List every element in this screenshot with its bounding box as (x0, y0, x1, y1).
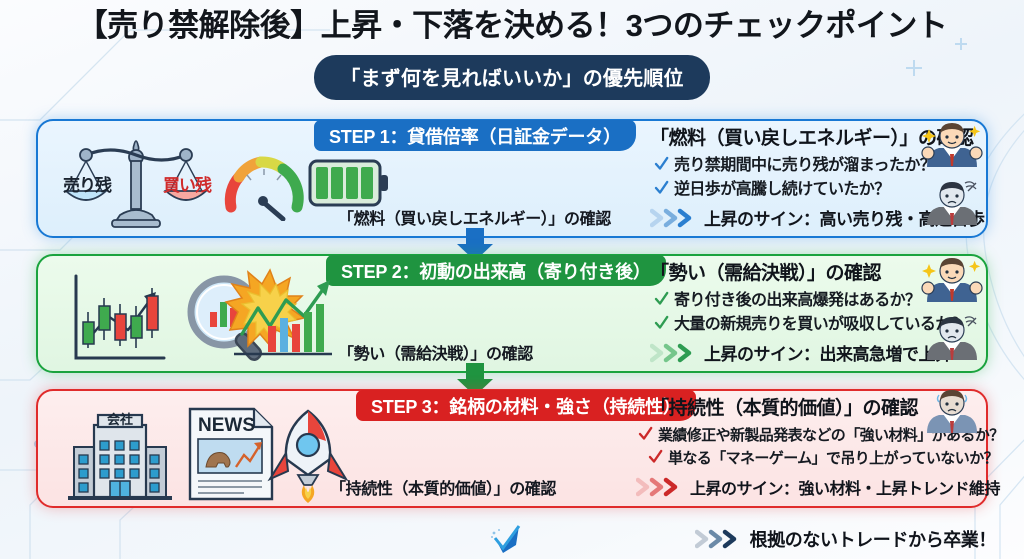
chevrons-right-icon (636, 477, 682, 497)
step-3-characters (921, 385, 983, 500)
check-icon (654, 154, 669, 173)
company-building-icon: 会社 (64, 407, 176, 505)
check-icon (654, 178, 669, 197)
svg-text:会社: 会社 (107, 412, 133, 427)
step-card-1[interactable]: STEP 1：貸借倍率（日証金データ） 売り残 買い残 (36, 119, 988, 238)
step-3-art-caption: 「持続性（本質的価値）」の確認 (330, 475, 556, 499)
worried-businessman-avatar (927, 182, 977, 225)
svg-text:NEWS: NEWS (198, 415, 255, 436)
step-card-2[interactable]: STEP 2：初動の出来高（寄り付き後） (36, 254, 988, 373)
check-icon (638, 424, 653, 443)
step-1-art-caption: 「燃料（買い戻しエネルギー）」の確認 (338, 205, 611, 229)
check-icon (654, 313, 669, 332)
step-2-illustration (60, 264, 310, 368)
worried-businessman-avatar (927, 317, 977, 360)
worried-businessman-avatar (927, 390, 977, 433)
step-3-illustration: 会社 NEWS (60, 399, 310, 503)
scale-right-label: 買い残 (163, 171, 211, 196)
step-2-check-0-label: 寄り付き後の出来高爆発はあるか？ (674, 289, 920, 314)
footer: 根拠のないトレードから卒業！ (0, 518, 1024, 559)
happy-businessman-avatar (922, 123, 982, 167)
step-2-sign-label: 上昇のサイン：出来高急増で上昇 (704, 340, 952, 365)
check-icon (648, 447, 663, 466)
blue-check-icon (490, 523, 522, 555)
step-2-sign-row: 上昇のサイン：出来高急増で上昇 (650, 340, 952, 365)
check-icon (654, 289, 669, 308)
chevrons-right-icon (650, 343, 696, 363)
step-2-art-caption: 「勢い（需給決戦）」の確認 (338, 340, 533, 364)
step-1-illustration: 売り残 買い残 (60, 129, 310, 233)
gauge-icon (223, 151, 309, 221)
chevrons-right-icon (695, 529, 741, 549)
happy-businessman-avatar (922, 258, 982, 302)
step-2-characters (921, 256, 983, 371)
infographic-page: 【売り禁解除後】上昇・下落を決める！3つのチェックポイント 「まず何を見ればいい… (0, 0, 1024, 559)
header: 【売り禁解除後】上昇・下落を決める！3つのチェックポイント 「まず何を見ればいい… (0, 8, 1024, 100)
step-1-check-0-label: 売り禁期間中に売り残が溜まったか？ (674, 154, 935, 179)
step-1-characters (921, 121, 983, 236)
battery-full-icon (307, 153, 393, 213)
step-1-check-1-label: 逆日歩が高騰し続けていたか？ (674, 178, 890, 203)
chevrons-right-icon (650, 208, 696, 228)
step-card-3[interactable]: STEP 3：銘柄の材料・強さ（持続性） 会社 (36, 389, 988, 508)
footer-message: 根拠のないトレードから卒業！ (695, 526, 996, 552)
footer-label: 根拠のないトレードから卒業！ (750, 526, 996, 552)
step-1-badge: STEP 1：貸借倍率（日証金データ） (314, 120, 636, 151)
candlestick-chart-icon (66, 270, 172, 366)
scale-left-label: 売り残 (63, 171, 111, 196)
page-title: 【売り禁解除後】上昇・下落を決める！3つのチェックポイント (0, 8, 1024, 44)
subtitle-pill: 「まず何を見ればいいか」の優先順位 (314, 55, 709, 100)
